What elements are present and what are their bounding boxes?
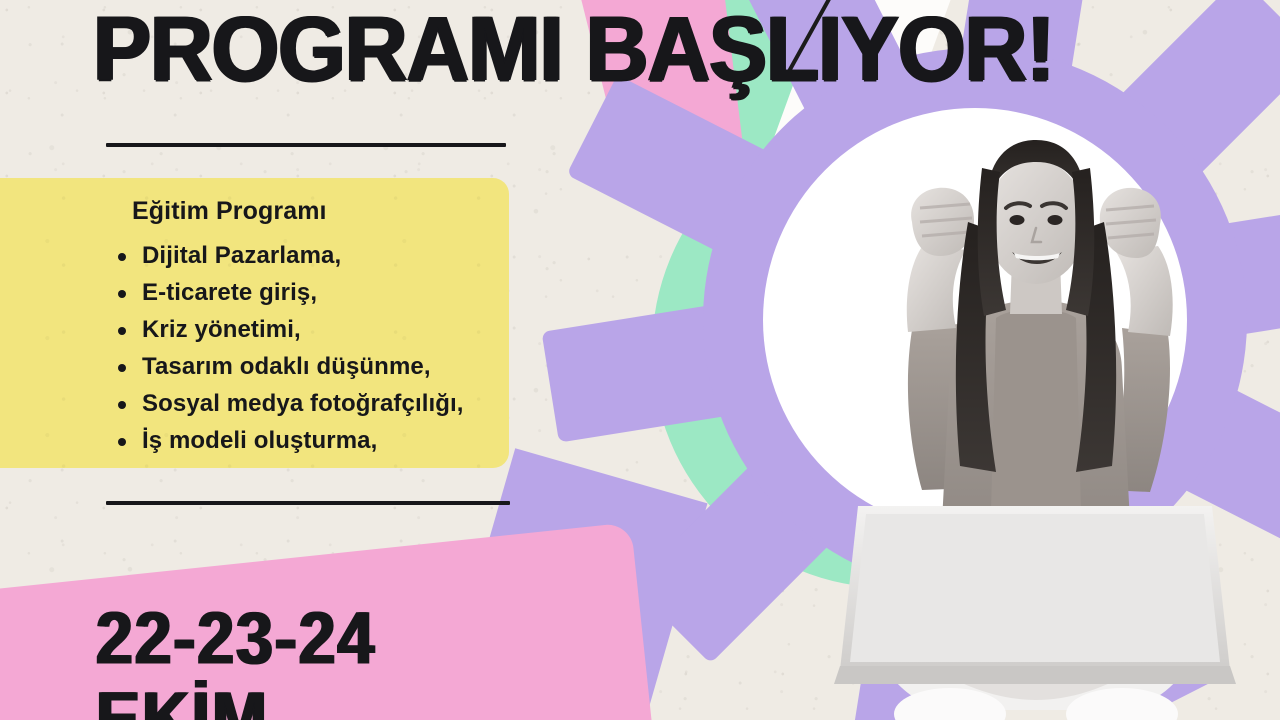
poster-canvas: PROGRAMI BAŞLIYOR! Eğitim Programı Dijit… — [0, 0, 1280, 720]
list-item: Dijital Pazarlama, — [112, 240, 464, 272]
list-item: Kriz yönetimi, — [112, 314, 464, 346]
divider-top — [106, 143, 506, 147]
program-heading: Eğitim Programı — [132, 197, 327, 226]
list-item: Tasarım odaklı düşünme, — [112, 351, 464, 383]
list-item: İş modeli oluşturma, — [112, 425, 464, 457]
celebrating-woman-with-laptop-photo — [800, 110, 1270, 720]
event-month: EKİM — [96, 681, 269, 720]
list-item: Sosyal medya fotoğrafçılığı, — [112, 388, 464, 420]
list-item: E-ticarete giriş, — [112, 277, 464, 309]
divider-bottom — [106, 501, 510, 505]
program-list: Dijital Pazarlama, E-ticarete giriş, Kri… — [112, 240, 464, 461]
page-title: PROGRAMI BAŞLIYOR! — [93, 4, 1054, 96]
event-date: 22-23-24 — [96, 601, 376, 675]
